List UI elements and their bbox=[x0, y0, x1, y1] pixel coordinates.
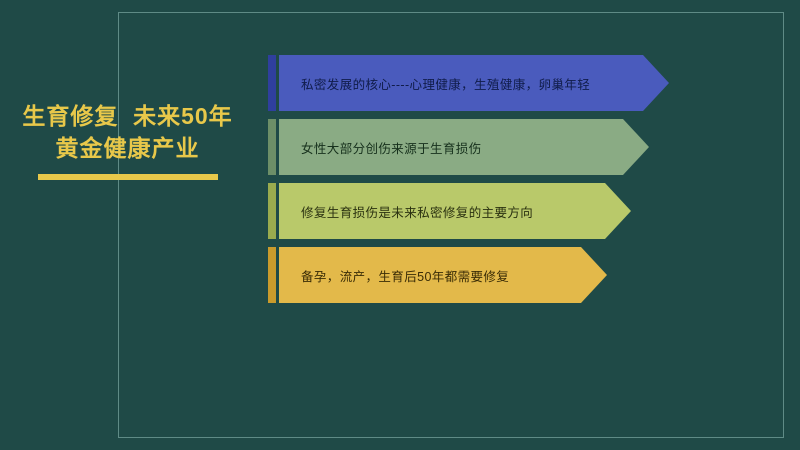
list-item: 女性大部分创伤来源于生育损伤 bbox=[268, 119, 688, 175]
row-label: 私密发展的核心----心理健康，生殖健康，卵巢年轻 bbox=[301, 74, 590, 93]
title-block: 生育修复 未来50年黄金健康产业 bbox=[20, 100, 235, 180]
list-item: 修复生育损伤是未来私密修复的主要方向 bbox=[268, 183, 688, 239]
row-body: 修复生育损伤是未来私密修复的主要方向 bbox=[279, 183, 631, 239]
row-body: 女性大部分创伤来源于生育损伤 bbox=[279, 119, 649, 175]
list-item: 备孕，流产，生育后50年都需要修复 bbox=[268, 247, 688, 303]
page-title: 生育修复 未来50年黄金健康产业 bbox=[20, 100, 235, 164]
row-label: 备孕，流产，生育后50年都需要修复 bbox=[301, 266, 509, 285]
row-accent-bar bbox=[268, 119, 276, 175]
row-accent-bar bbox=[268, 247, 276, 303]
row-accent-bar bbox=[268, 183, 276, 239]
list-item: 私密发展的核心----心理健康，生殖健康，卵巢年轻 bbox=[268, 55, 688, 111]
title-underline bbox=[38, 174, 218, 180]
row-label: 女性大部分创伤来源于生育损伤 bbox=[301, 138, 482, 157]
row-accent-bar bbox=[268, 55, 276, 111]
row-label: 修复生育损伤是未来私密修复的主要方向 bbox=[301, 202, 533, 221]
row-body: 备孕，流产，生育后50年都需要修复 bbox=[279, 247, 607, 303]
row-body: 私密发展的核心----心理健康，生殖健康，卵巢年轻 bbox=[279, 55, 669, 111]
slide: 生育修复 未来50年黄金健康产业 私密发展的核心----心理健康，生殖健康，卵巢… bbox=[0, 0, 800, 450]
arrow-list: 私密发展的核心----心理健康，生殖健康，卵巢年轻 女性大部分创伤来源于生育损伤… bbox=[268, 55, 688, 311]
